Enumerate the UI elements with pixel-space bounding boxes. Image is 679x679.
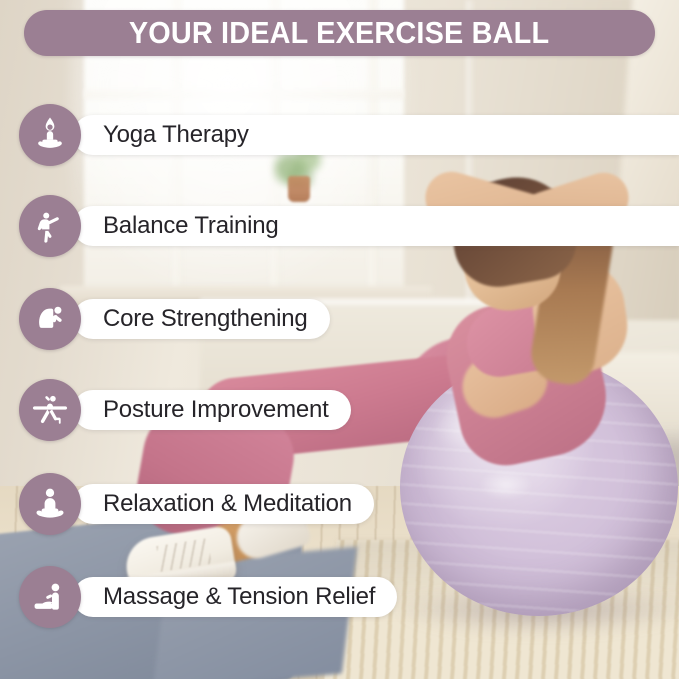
feature-row[interactable]: Relaxation & Meditation [19,473,374,535]
feature-pill: Massage & Tension Relief [73,577,397,617]
meditation-seated-icon [19,473,81,535]
feature-pill: Posture Improvement [73,390,351,430]
feature-pill: Yoga Therapy [73,115,679,155]
massage-table-icon [19,566,81,628]
feature-row[interactable]: Yoga Therapy [19,104,679,166]
feature-label: Relaxation & Meditation [103,490,352,518]
feature-row[interactable]: Posture Improvement [19,379,351,441]
feature-row[interactable]: Balance Training [19,195,679,257]
tree-pose-balance-icon [19,195,81,257]
feature-pill: Balance Training [73,206,679,246]
feature-pill: Relaxation & Meditation [73,484,374,524]
feature-row[interactable]: Core Strengthening [19,288,330,350]
feature-label: Balance Training [103,212,279,240]
infographic-canvas: YOUR IDEAL EXERCISE BALL Yoga Therapy [0,0,679,679]
feature-label: Yoga Therapy [103,121,249,149]
crunch-situp-core-icon [19,288,81,350]
feature-list: Yoga Therapy Balance Training [0,0,679,679]
feature-label: Massage & Tension Relief [103,583,375,611]
feature-row[interactable]: Massage & Tension Relief [19,566,397,628]
feature-pill: Core Strengthening [73,299,330,339]
yoga-lotus-arms-up-icon [19,104,81,166]
feature-label: Core Strengthening [103,305,308,333]
warrior-pose-posture-icon [19,379,81,441]
feature-label: Posture Improvement [103,396,329,424]
